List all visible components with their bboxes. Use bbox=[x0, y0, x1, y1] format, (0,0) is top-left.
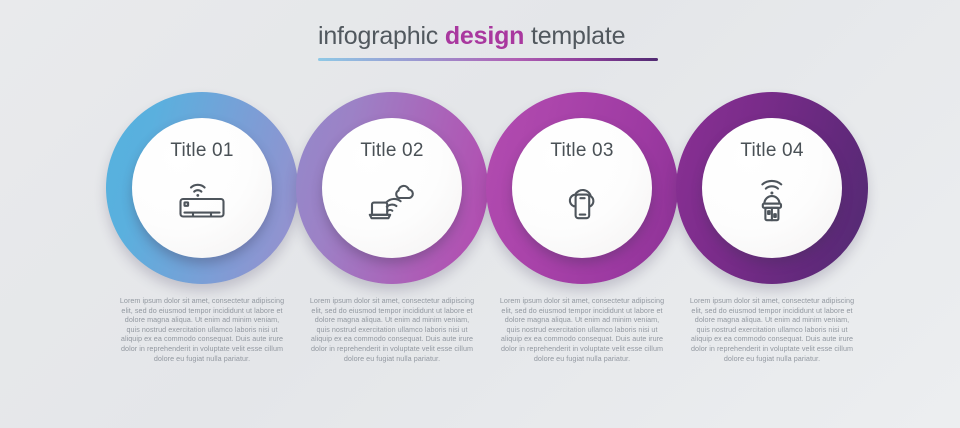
step-title-3: Title 03 bbox=[550, 140, 613, 162]
laptop-cloud-wifi-icon bbox=[361, 171, 423, 227]
step-inner-disc-4: Title 04 bbox=[702, 118, 842, 258]
header: infographic design template bbox=[318, 22, 658, 61]
infographic-canvas: infographic design template Title 01 bbox=[0, 0, 960, 428]
cloud-smartphone-icon bbox=[551, 171, 613, 227]
step-title-1: Title 01 bbox=[170, 140, 233, 162]
step-circles-row: Title 01 Title 02 bbox=[0, 92, 960, 284]
step-title-2: Title 02 bbox=[360, 140, 423, 162]
step-inner-disc-3: Title 03 bbox=[512, 118, 652, 258]
smart-sensor-detector-wifi-icon bbox=[741, 171, 803, 227]
step-inner-disc-2: Title 02 bbox=[322, 118, 462, 258]
step-inner-disc-1: Title 01 bbox=[132, 118, 272, 258]
title-underline-rule bbox=[318, 58, 658, 61]
step-node-1[interactable]: Title 01 bbox=[106, 92, 298, 284]
step-body-text-4: Lorem ipsum dolor sit amet, consectetur … bbox=[688, 296, 856, 363]
page-title: infographic design template bbox=[318, 22, 658, 51]
title-word-template: template bbox=[524, 22, 625, 50]
step-body-text-2: Lorem ipsum dolor sit amet, consectetur … bbox=[308, 296, 476, 363]
title-word-infographic: infographic bbox=[318, 22, 445, 50]
step-body-text-1: Lorem ipsum dolor sit amet, consectetur … bbox=[118, 296, 286, 363]
step-body-text-3: Lorem ipsum dolor sit amet, consectetur … bbox=[498, 296, 666, 363]
step-node-4[interactable]: Title 04 bbox=[676, 92, 868, 284]
smart-air-conditioner-wifi-icon bbox=[171, 171, 233, 227]
step-node-3[interactable]: Title 03 bbox=[486, 92, 678, 284]
title-word-design: design bbox=[445, 22, 524, 50]
step-node-2[interactable]: Title 02 bbox=[296, 92, 488, 284]
step-title-4: Title 04 bbox=[740, 140, 803, 162]
